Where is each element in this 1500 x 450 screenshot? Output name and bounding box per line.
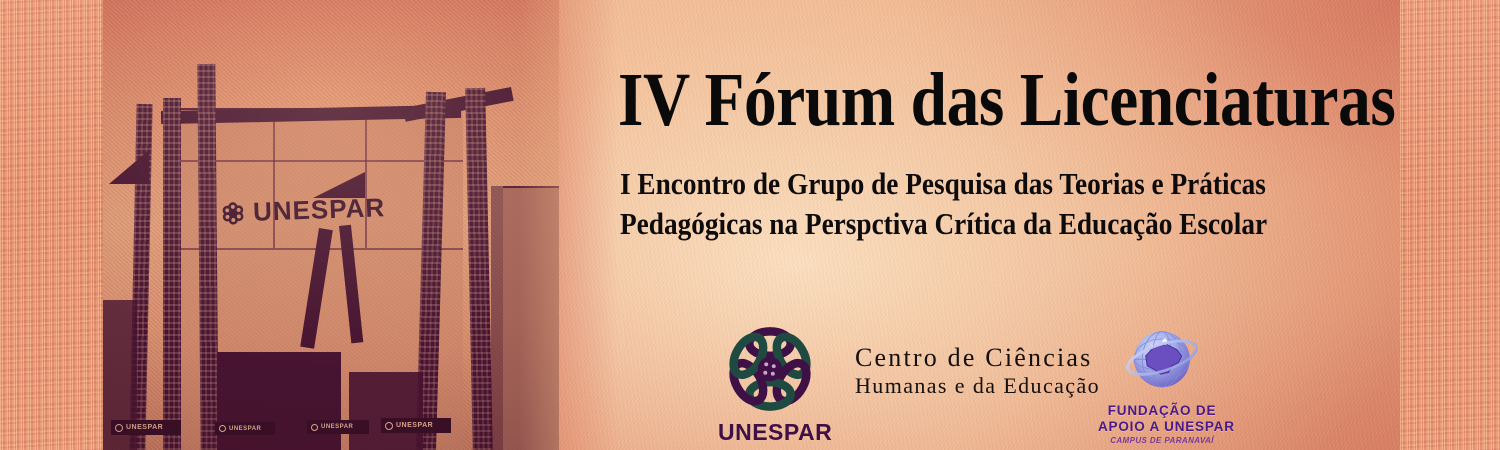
- unespar-logo: UNESPAR: [718, 322, 822, 446]
- flag-logo-mark: [219, 425, 226, 432]
- centro-ciencias-line-2: Humanas e da Educação: [855, 373, 1085, 399]
- unespar-rosette-icon: [221, 201, 246, 226]
- event-subtitle-line-1: I Encontro de Grupo de Pesquisa das Teor…: [620, 168, 1266, 199]
- event-subtitle-line-2: Pedagógicas na Perspctiva Crítica da Edu…: [620, 208, 1267, 239]
- unespar-rosette-icon: [723, 322, 817, 416]
- photo-flag-label: UNESPAR: [321, 424, 353, 430]
- campus-photo: UNESPAR UNESPAR UNESPAR UNESPAR UNESPAR: [103, 0, 559, 450]
- photo-flag-label: UNESPAR: [229, 426, 261, 432]
- photo-flag-label: UNESPAR: [396, 422, 433, 429]
- photo-flag: UNESPAR: [381, 418, 451, 433]
- event-title: IV Fórum das Licenciaturas: [618, 62, 1395, 138]
- photo-foreground-block: [217, 352, 341, 450]
- photo-building-sign-label: UNESPAR: [252, 192, 385, 228]
- fundacao-logo: FUNDAÇÃO DE APOIO A UNESPAR CAMPUS DE PA…: [1098, 325, 1226, 445]
- centro-ciencias-line-1: Centro de Ciências: [855, 343, 1085, 373]
- background-left-bleed: [558, 0, 618, 450]
- fundacao-line-1: FUNDAÇÃO DE: [1098, 403, 1226, 418]
- flag-logo-mark: [115, 424, 123, 432]
- photo-foreground-block: [349, 372, 423, 450]
- photo-column: [197, 64, 218, 450]
- photo-column: [163, 98, 181, 450]
- left-texture-strip: [0, 0, 103, 450]
- centro-ciencias-lockup: Centro de Ciências Humanas e da Educação: [855, 343, 1085, 399]
- photo-side-building: [503, 186, 559, 450]
- photo-wall-seam: [365, 108, 367, 248]
- fundacao-campus-label: CAMPUS DE PARANAVAÍ: [1098, 436, 1226, 445]
- photo-flag: UNESPAR: [215, 422, 275, 435]
- photo-building-sign: UNESPAR: [221, 192, 386, 229]
- photo-flag: UNESPAR: [307, 420, 369, 434]
- photo-flag-label: UNESPAR: [126, 424, 163, 431]
- right-texture-strip: [1400, 0, 1500, 450]
- fundacao-line-2: APOIO A UNESPAR: [1098, 419, 1226, 434]
- flag-logo-mark: [311, 424, 318, 431]
- photo-flag: UNESPAR: [111, 420, 181, 435]
- globe-parana-icon: [1121, 325, 1203, 397]
- flag-logo-mark: [385, 422, 393, 430]
- unespar-wordmark: UNESPAR: [718, 419, 822, 446]
- event-banner: UNESPAR UNESPAR UNESPAR UNESPAR UNESPAR …: [0, 0, 1500, 450]
